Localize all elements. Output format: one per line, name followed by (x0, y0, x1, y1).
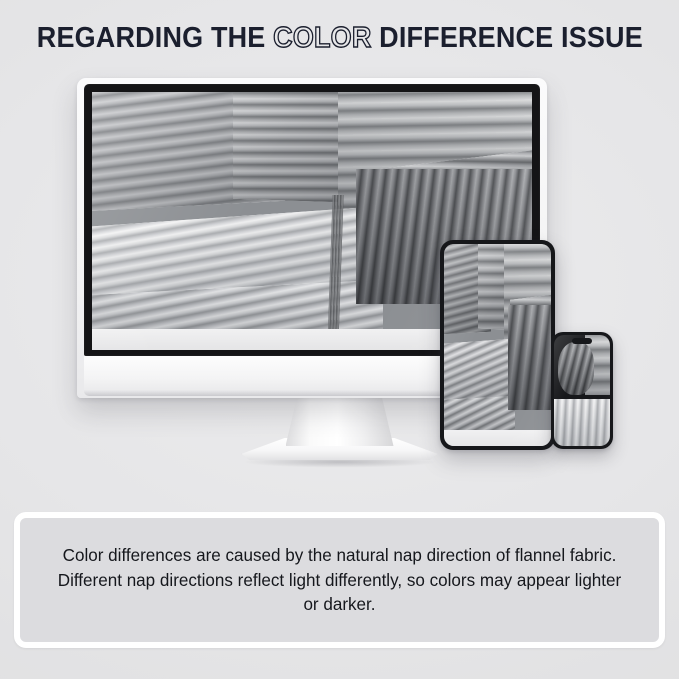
tablet (440, 240, 555, 450)
tablet-screen (444, 244, 551, 446)
sofa-image-tablet (444, 244, 551, 446)
smartphone (551, 332, 613, 449)
sofa-cushion-closeup (558, 342, 594, 395)
page-stage: REGARDING THE COLOR DIFFERENCE ISSUE (0, 0, 679, 679)
note-panel: Color differences are caused by the natu… (14, 512, 665, 648)
device-mockup-group (0, 0, 679, 500)
sofa-floor (444, 430, 551, 446)
monitor-stand-neck (286, 396, 394, 446)
sofa-image-phone (554, 335, 610, 446)
sofa-armrest-block (508, 305, 551, 410)
sofa-seat-front (554, 399, 610, 446)
note-text: Color differences are caused by the natu… (30, 543, 650, 618)
dynamic-island (572, 338, 592, 344)
phone-screen (554, 335, 610, 446)
